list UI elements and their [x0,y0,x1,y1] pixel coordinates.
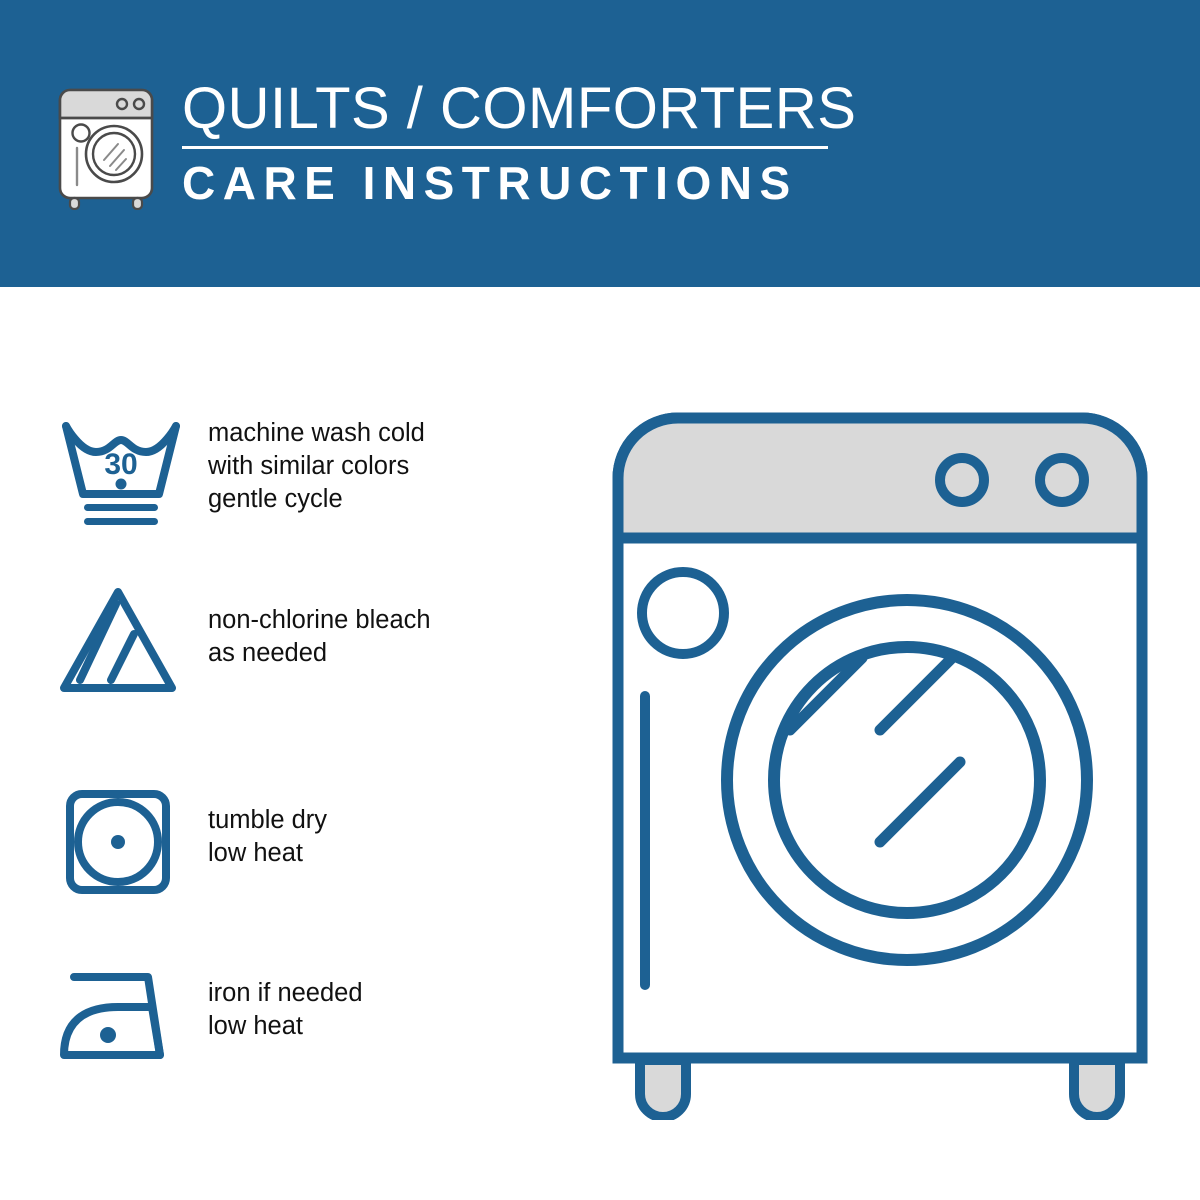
tumble-dry-low-icon [56,782,186,902]
wash-temperature-label: 30 [104,448,137,481]
leg-right [1074,1060,1120,1117]
list-item: iron if needed low heat [56,955,363,1075]
header-title-block: QUILTS / COMFORTERS CARE INSTRUCTIONS [182,78,856,208]
list-item-label: iron if needed low heat [208,955,363,1043]
page-title: QUILTS / COMFORTERS [182,78,856,140]
non-chlorine-bleach-icon [56,582,186,702]
front-load-washing-machine-illustration [600,400,1160,1120]
header-banner: QUILTS / COMFORTERS CARE INSTRUCTIONS [0,0,1200,287]
washing-machine-icon [52,82,160,210]
list-item-label: tumble dry low heat [208,782,327,870]
list-item: non-chlorine bleach as needed [56,582,431,702]
leg-left [640,1060,686,1117]
list-item-label: non-chlorine bleach as needed [208,582,431,670]
title-divider [182,146,828,149]
list-item: 30 machine wash cold with similar colors… [56,412,425,532]
list-item: tumble dry low heat [56,782,327,902]
list-item-label: machine wash cold with similar colors ge… [208,412,425,516]
care-instruction-list: 30 machine wash cold with similar colors… [0,287,560,1200]
iron-low-heat-icon [56,955,186,1075]
machine-wash-30-gentle-icon: 30 [56,412,186,532]
page-subtitle: CARE INSTRUCTIONS [182,158,856,208]
header-content: QUILTS / COMFORTERS CARE INSTRUCTIONS [52,78,856,210]
